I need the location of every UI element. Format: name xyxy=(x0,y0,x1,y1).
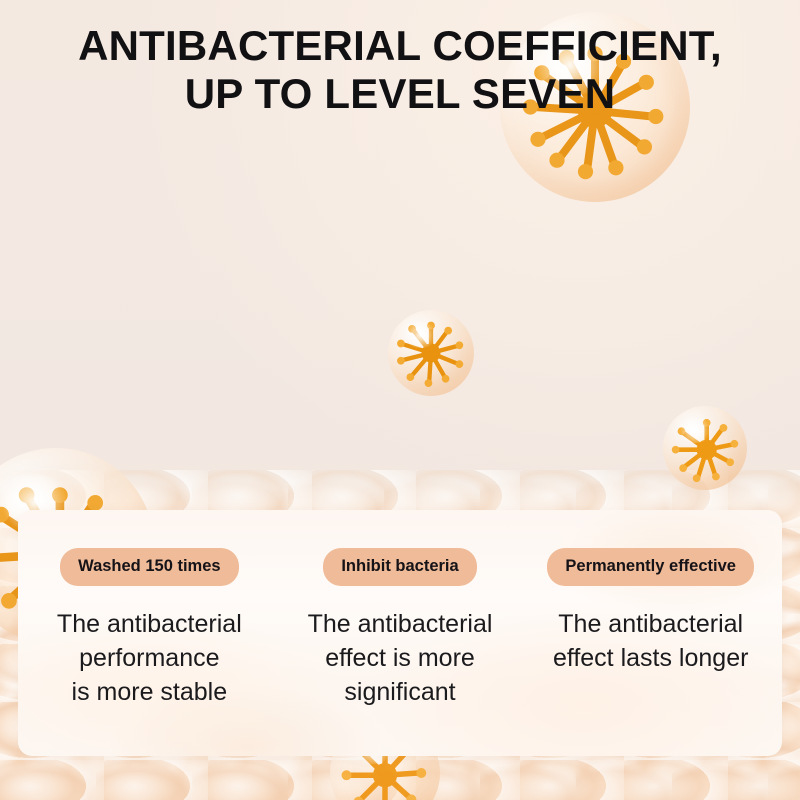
feature-column-inhibit-bacteria: Inhibit bacteria The antibacterial effec… xyxy=(275,548,526,709)
virus-bubble-center-icon xyxy=(388,310,474,396)
feature-column-washed-150-times: Washed 150 times The antibacterial perfo… xyxy=(24,548,275,709)
virus-spikes-icon xyxy=(663,406,747,490)
feature-description-inhibit-bacteria: The antibacterial effect is more signifi… xyxy=(308,607,493,709)
feature-column-permanently-effective: Permanently effective The antibacterial … xyxy=(525,548,776,675)
feature-columns: Washed 150 times The antibacterial perfo… xyxy=(18,510,782,756)
feature-description-permanently-effective: The antibacterial effect lasts longer xyxy=(553,607,748,675)
virus-spikes-icon xyxy=(388,310,474,396)
bubble-highlight xyxy=(678,418,712,443)
feature-badge-permanently-effective: Permanently effective xyxy=(547,548,754,586)
feature-badge-washed-150-times: Washed 150 times xyxy=(60,548,238,586)
poster-canvas: ANTIBACTERIAL COEFFICIENT, UP TO LEVEL S… xyxy=(0,0,800,800)
feature-card: Washed 150 times The antibacterial perfo… xyxy=(18,510,782,756)
page-title: ANTIBACTERIAL COEFFICIENT, UP TO LEVEL S… xyxy=(0,22,800,118)
virus-bubble-right-icon xyxy=(663,406,747,490)
feature-description-washed-150-times: The antibacterial performance is more st… xyxy=(57,607,242,709)
feature-badge-inhibit-bacteria: Inhibit bacteria xyxy=(323,548,476,586)
bubble-highlight xyxy=(403,322,437,348)
